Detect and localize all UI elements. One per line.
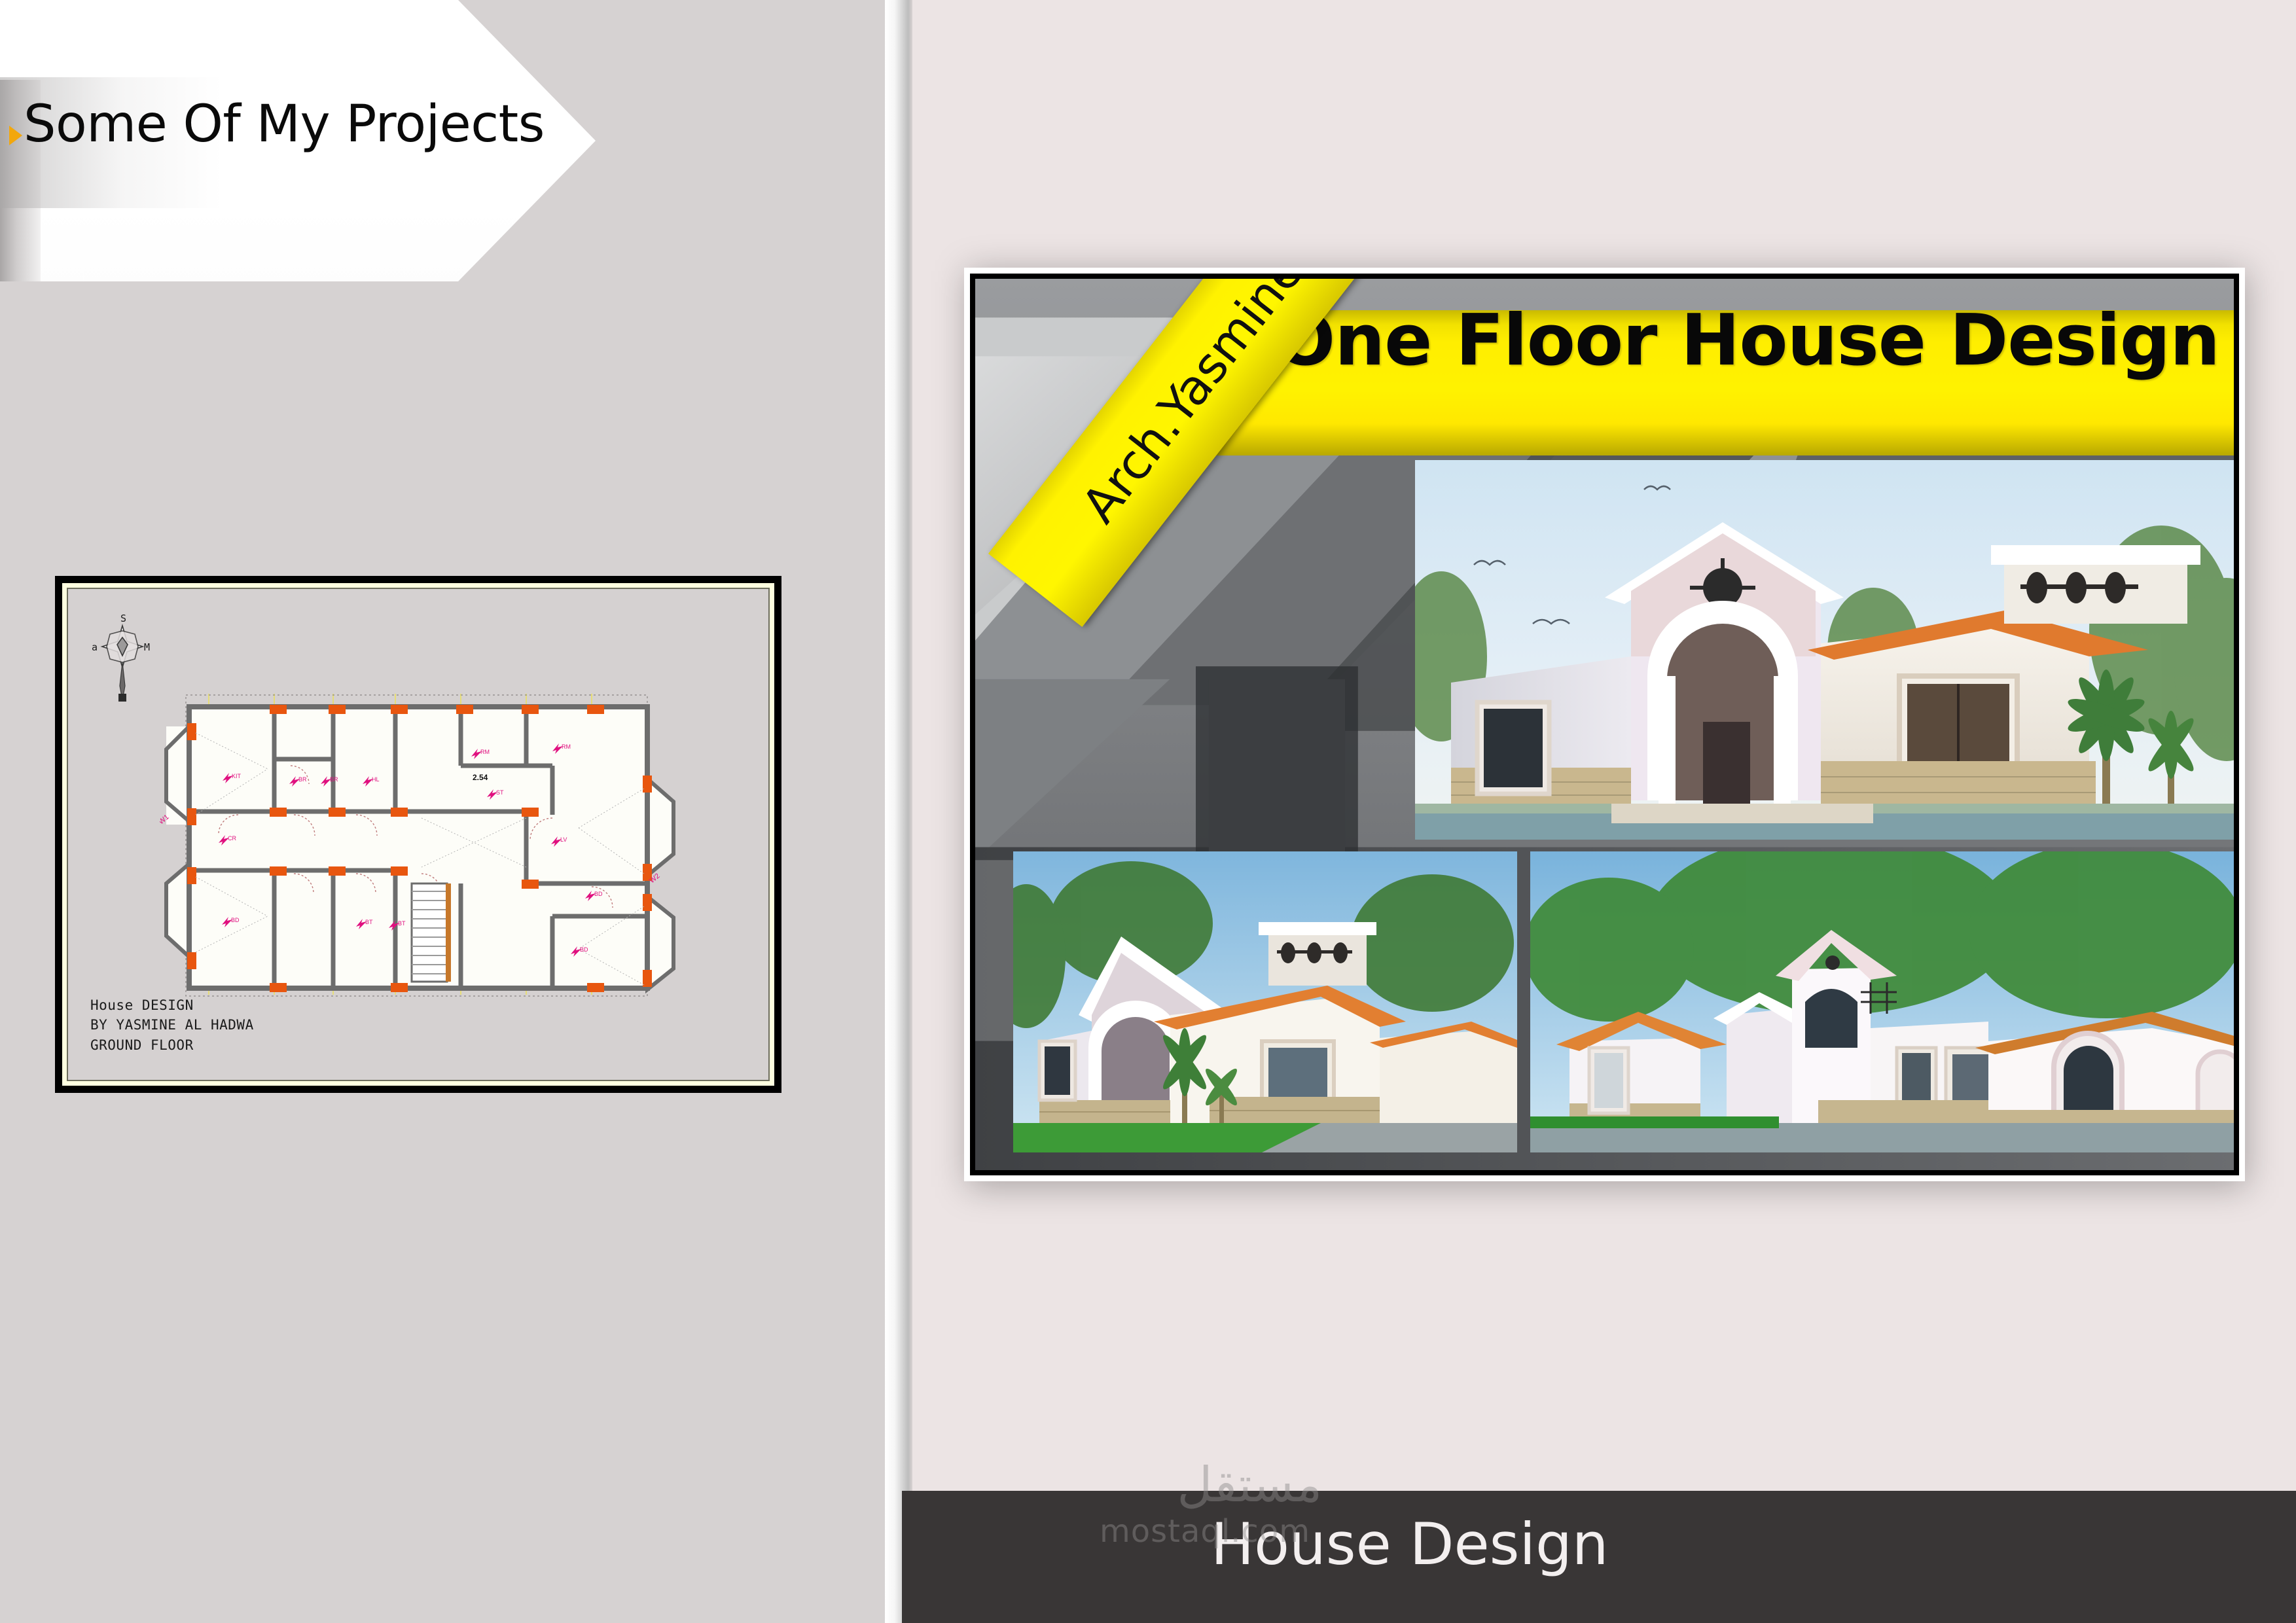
- triangle-bullet-icon: [9, 126, 22, 145]
- svg-text:RM: RM: [480, 749, 490, 755]
- svg-text:S: S: [120, 613, 126, 624]
- floor-plan-sheet: S M a: [55, 576, 781, 1093]
- left-side-photo: [1013, 851, 1517, 1152]
- svg-text:RM: RM: [562, 743, 571, 750]
- floor-plan-credits: House DESIGN BY YASMINE AL HADWA GROUND …: [90, 995, 254, 1055]
- floor-plan-matte: S M a: [62, 583, 774, 1086]
- svg-text:LV: LV: [560, 836, 567, 843]
- svg-text:KIT: KIT: [232, 773, 242, 779]
- room-area-label: 2.54: [473, 773, 488, 782]
- slide-black-frame: One Floor House Design Arch.Yasmine Hadw…: [970, 274, 2239, 1175]
- svg-text:HL: HL: [372, 776, 380, 783]
- mostaql-watermark: مستقل mostaql.com: [1100, 1461, 1322, 1592]
- svg-text:a: a: [92, 641, 98, 653]
- right-side-photo: [1530, 851, 2234, 1152]
- floor-plan-canvas: S M a: [67, 588, 770, 1081]
- credit-line-1: House DESIGN: [90, 995, 254, 1015]
- svg-text:BT: BT: [365, 919, 373, 925]
- credit-line-2: BY YASMINE AL HADWA: [90, 1015, 254, 1035]
- svg-text:CR: CR: [228, 835, 236, 842]
- main-elevation-photo: [1415, 460, 2234, 840]
- project-slide: One Floor House Design Arch.Yasmine Hadw…: [964, 268, 2245, 1181]
- watermark-url: mostaql.com: [1100, 1513, 1322, 1550]
- svg-text:BR: BR: [298, 776, 307, 783]
- credit-line-3: GROUND FLOOR: [90, 1035, 254, 1055]
- svg-text:BD: BD: [594, 891, 603, 897]
- watermark-arabic: مستقل: [1100, 1461, 1322, 1509]
- slide-page: Some Of My Projects S M a: [0, 0, 2296, 1623]
- panel-divider: [885, 0, 912, 1623]
- svg-text:BT: BT: [398, 920, 406, 927]
- svg-text:ST: ST: [496, 789, 504, 796]
- slide-header-title: One Floor House Design: [1275, 300, 2219, 382]
- svg-text:BD: BD: [231, 917, 240, 923]
- svg-text:BR: BR: [330, 776, 338, 783]
- svg-text:BD: BD: [580, 946, 588, 953]
- floor-plan-drawing: KIT BR BR HL RM RM ST LV CR BD BT BT BD …: [160, 687, 677, 1014]
- svg-text:M: M: [144, 641, 150, 653]
- compass-rose-icon: S M a: [86, 607, 158, 705]
- page-title: Some Of My Projects: [24, 95, 545, 154]
- slide-canvas: One Floor House Design Arch.Yasmine Hadw…: [975, 279, 2234, 1170]
